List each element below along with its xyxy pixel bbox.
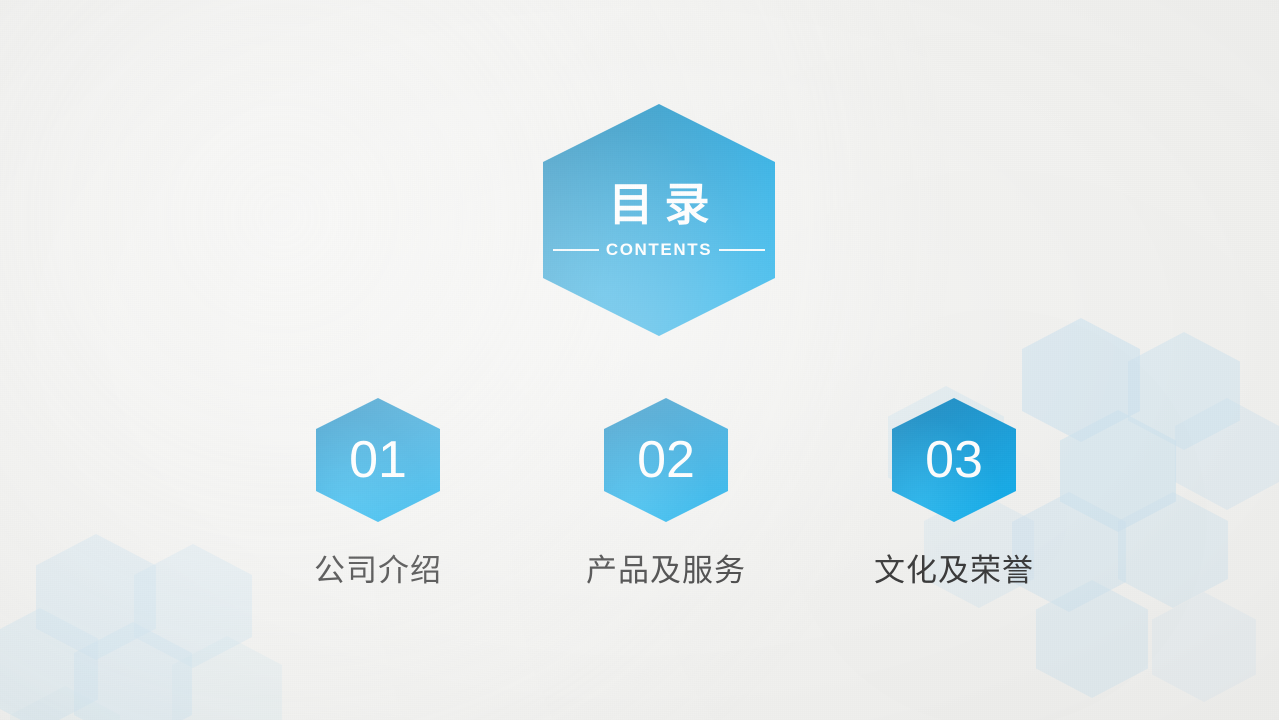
toc-item-03-label: 文化及荣誉 — [834, 554, 1074, 588]
page-title-en: CONTENTS — [599, 241, 719, 258]
contents-hexagon-content: 目录 CONTENTS — [543, 104, 775, 336]
honeycomb-left-cell — [10, 686, 120, 720]
rule-left-icon — [553, 249, 599, 251]
honeycomb-right-cell — [1128, 332, 1240, 450]
contents-subtitle-row: CONTENTS — [551, 241, 767, 258]
honeycomb-right-cell — [1118, 492, 1228, 608]
slide-canvas: 目录 CONTENTS 01 公司介绍 02 产品及服务 03 — [0, 0, 1279, 720]
toc-item-02-label: 产品及服务 — [546, 554, 786, 588]
toc-item-03-number: 03 — [892, 398, 1016, 522]
page-title-cn: 目录 — [597, 182, 720, 227]
rule-right-icon — [719, 249, 765, 251]
toc-item-03-hexagon[interactable]: 03 — [892, 398, 1016, 522]
honeycomb-left-cell — [134, 544, 252, 668]
toc-item-02-number: 02 — [604, 398, 728, 522]
honeycomb-right-cell — [1036, 580, 1148, 698]
honeycomb-right-cell — [1175, 398, 1279, 510]
honeycomb-left-cell — [172, 636, 282, 720]
toc-item-01-hexagon[interactable]: 01 — [316, 398, 440, 522]
toc-item-02[interactable]: 02 产品及服务 — [546, 398, 786, 588]
honeycomb-left-cell — [36, 534, 156, 660]
honeycomb-left-cell — [0, 608, 98, 720]
toc-item-02-hexagon[interactable]: 02 — [604, 398, 728, 522]
honeycomb-right-cell — [1152, 592, 1256, 702]
toc-item-03[interactable]: 03 文化及荣誉 — [834, 398, 1074, 588]
honeycomb-right-cell — [1060, 410, 1176, 532]
honeycomb-left-cell — [74, 622, 192, 720]
contents-title-hexagon: 目录 CONTENTS — [543, 104, 775, 336]
toc-item-01-label: 公司介绍 — [258, 554, 498, 588]
toc-item-01[interactable]: 01 公司介绍 — [258, 398, 498, 588]
toc-item-01-number: 01 — [316, 398, 440, 522]
